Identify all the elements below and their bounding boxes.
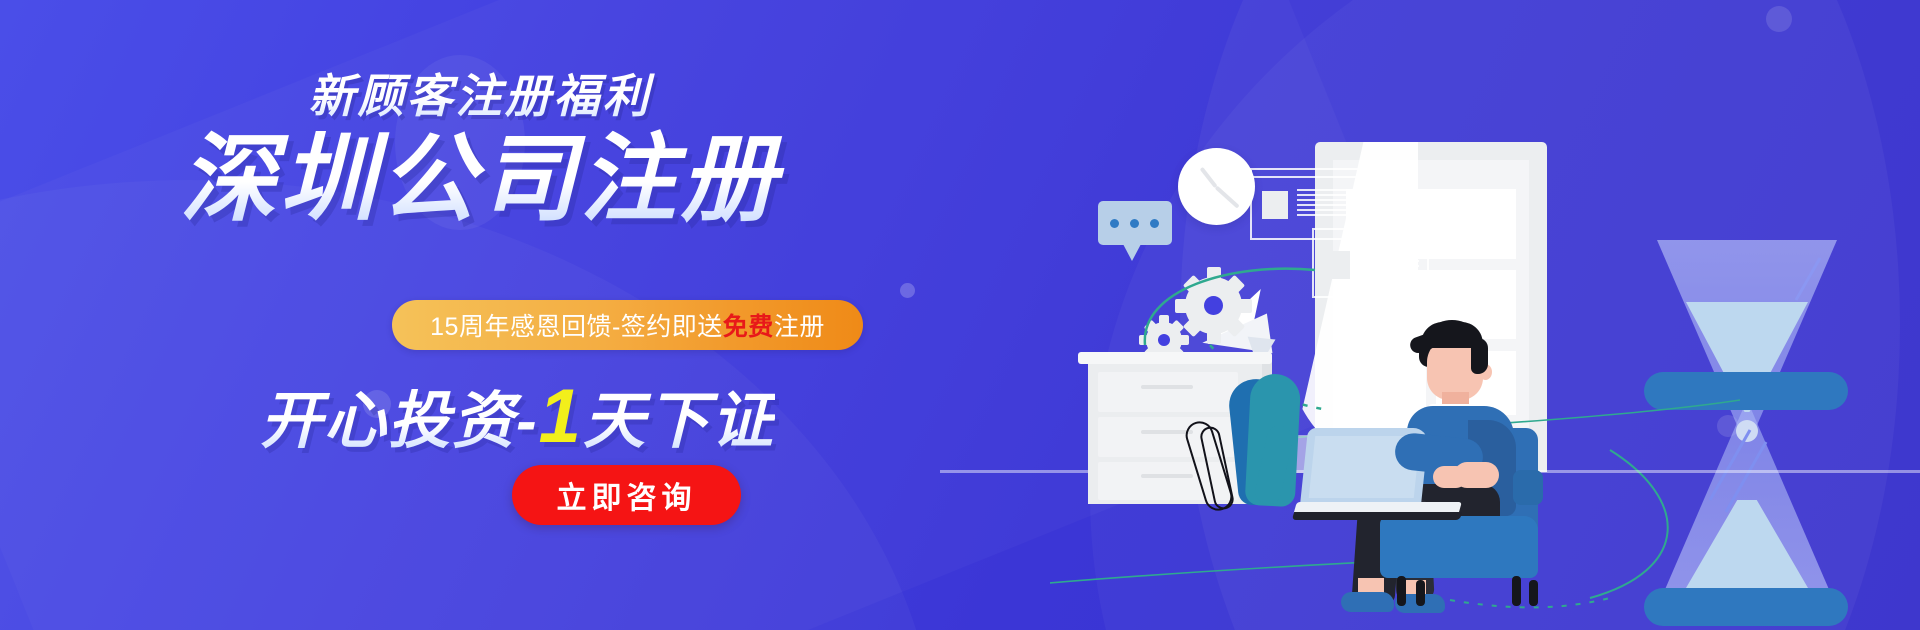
consult-now-button[interactable]: 立即咨询: [512, 465, 741, 525]
chat-dot: [1110, 219, 1119, 228]
document-thumbnail: [1324, 251, 1350, 279]
person-shoe: [1341, 592, 1394, 612]
office-illustration: [1050, 0, 1920, 630]
document-text-lines: [1359, 250, 1419, 276]
promo-badge: 15周年感恩回馈-签约即送免费注册: [392, 300, 863, 350]
chat-bubble-tail: [1123, 244, 1141, 261]
chat-dot: [1130, 219, 1139, 228]
tagline-part1: 开心投资-: [260, 387, 539, 456]
drawer-handle: [1141, 385, 1193, 389]
drawer-handle: [1141, 474, 1193, 478]
chat-dot: [1150, 219, 1159, 228]
person-hair-side: [1471, 338, 1488, 374]
person-hand: [1433, 466, 1467, 488]
document-window-titlebar: [1250, 168, 1367, 178]
promo-banner: 新顾客注册福利 深圳公司注册 15周年感恩回馈-签约即送免费注册 开心投资-1天…: [0, 0, 1920, 630]
cabinet-top: [1078, 352, 1272, 364]
promo-highlight: 免费: [723, 307, 774, 343]
document-text-lines: [1297, 189, 1357, 221]
armchair-leg: [1416, 580, 1425, 606]
armchair-seat: [1380, 516, 1538, 578]
tagline-number: 1: [539, 374, 583, 459]
armchair-leg: [1512, 576, 1521, 606]
promo-suffix: 注册: [774, 307, 825, 343]
armchair-arm: [1513, 470, 1543, 505]
tagline: 开心投资-1天下证: [0, 370, 1035, 460]
hourglass-top-bar: [1644, 372, 1848, 410]
armchair-leg: [1529, 580, 1538, 606]
laptop-base-edge: [1292, 512, 1462, 520]
armchair-leg: [1397, 576, 1406, 606]
headline-group: 新顾客注册福利 深圳公司注册 15周年感恩回馈-签约即送免费注册 开心投资-1天…: [0, 0, 1080, 630]
gear-hub: [1158, 334, 1170, 346]
kicker-text: 新顾客注册福利: [0, 60, 960, 126]
hourglass-neck: [1736, 420, 1758, 442]
tagline-part2: 天下证: [583, 387, 775, 456]
promo-prefix: 15周年感恩回馈-签约即送: [430, 307, 723, 343]
wall-clock-icon: [1178, 148, 1255, 225]
hourglass-bottom-bar: [1644, 588, 1848, 626]
page-title: 深圳公司注册: [0, 128, 960, 232]
gear-hub: [1204, 296, 1223, 315]
document-thumbnail: [1262, 191, 1288, 219]
cabinet-drawer: [1098, 372, 1238, 412]
